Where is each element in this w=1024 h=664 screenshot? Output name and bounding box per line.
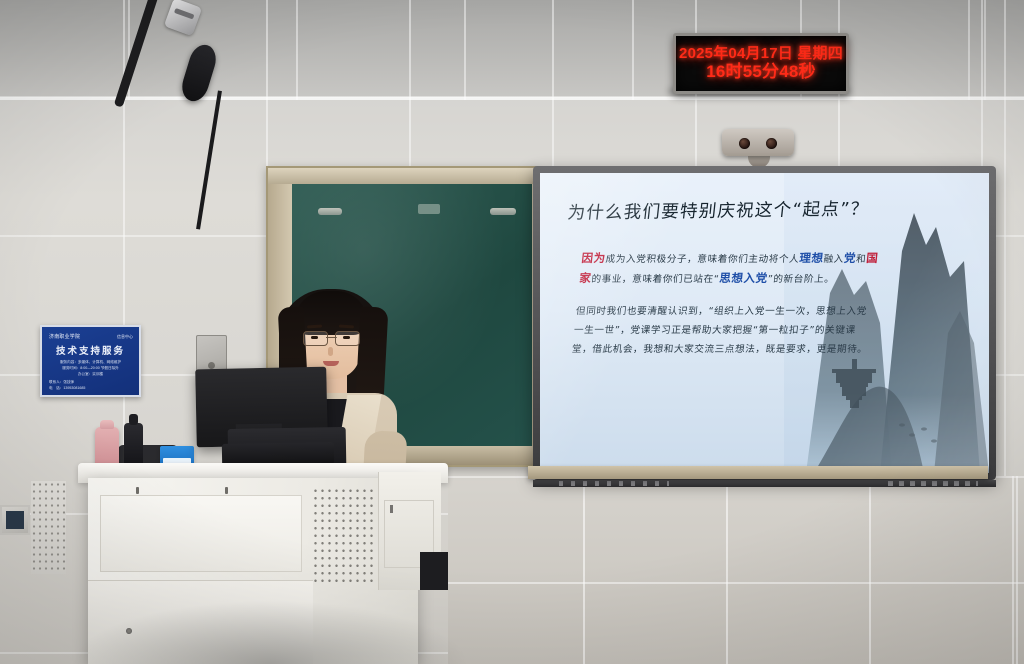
sign-contact-phone: 电 话：13953081685: [49, 385, 85, 391]
blackboard-handle-right[interactable]: [490, 208, 516, 215]
camera-lens-right-icon: [766, 138, 777, 149]
slide-highlight-ideological: 思想入党: [719, 271, 769, 285]
blackboard-top-rail: [268, 168, 536, 184]
podium-cable-opening: [420, 552, 448, 590]
recording-camera-icon: [722, 129, 794, 156]
presenter-nose: [328, 347, 333, 356]
classroom-photo: 2025年04月17日 星期四 16时55分48秒: [0, 0, 1024, 664]
slide-text-1: 成为入党积极分子，意味着你们主动将个人: [605, 254, 800, 265]
screen-control-buttons[interactable]: [559, 481, 669, 486]
blackboard-clip: [418, 204, 440, 214]
slide-canvas: 为什么我们要特别庆祝这个“起点”？ 因为成为入党积极分子，意味着你们主动将个人理…: [540, 173, 989, 473]
slide-paragraph-2: 但同时我们也要清醒认识到，“组织上入党一生一次，思想上入党一生一世”，党课学习正…: [571, 302, 877, 359]
slide-text-5: ”的新台阶上。: [767, 274, 835, 285]
presenter-eye-right: [343, 336, 350, 339]
lower-wall: [448, 476, 1024, 664]
presenter-eye-left: [311, 336, 318, 339]
slide-highlight-because: 因为: [581, 251, 607, 265]
slide-body-text: 因为成为入党积极分子，意味着你们主动将个人理想融入党和国家的事业，意味着你们已站…: [570, 249, 883, 372]
podium-cabinet-lock[interactable]: [390, 505, 393, 513]
blackboard-handle-left[interactable]: [318, 208, 342, 215]
sign-department: 信息中心: [117, 334, 133, 340]
presenter-mouth: [323, 361, 339, 366]
led-date-time-display: 2025年04月17日 星期四 16时55分48秒: [673, 33, 849, 94]
technical-support-sign: 济南职业学院 信息中心 技术支持服务 服务内容：多媒体、计算机、网络维护 服务时…: [40, 325, 141, 397]
sign-line-3: 办公室：实训楼: [48, 371, 133, 377]
podium-speaker-grille: [312, 487, 374, 582]
wall-jack-box: [0, 505, 30, 535]
led-time-line: 16时55分48秒: [706, 62, 816, 81]
slide-title: 为什么我们要特别庆祝这个“起点”？: [566, 194, 950, 224]
screen-support-shelf: [528, 466, 988, 479]
sign-contact: 联系人：张技师 电 话：13953081685: [49, 379, 85, 391]
camera-lens-left-icon: [739, 138, 750, 149]
podium-floor-shadow: [70, 600, 470, 664]
black-bottle: [124, 423, 143, 467]
slide-highlight-ideal: 理想: [799, 251, 825, 265]
screen-brand-mark: [888, 481, 978, 486]
pink-thermos: [95, 427, 119, 467]
podium-screw-left: [136, 487, 139, 494]
presenter-hair-top: [295, 291, 367, 335]
slide-text-2: 融入: [823, 254, 845, 265]
sign-title: 技术支持服务: [42, 343, 139, 357]
interactive-smart-screen[interactable]: 为什么我们要特别庆祝这个“起点”？ 因为成为入党积极分子，意味着你们主动将个人理…: [533, 166, 996, 480]
led-date-line: 2025年04月17日 星期四: [679, 46, 843, 63]
podium-screw-right: [225, 487, 228, 494]
sign-university-name: 济南职业学院: [49, 333, 80, 340]
slide-text-4: 的事业，意味着你们已站在“: [591, 274, 720, 285]
podium-front-panel: [100, 495, 302, 572]
slide-paragraph-1: 因为成为入党积极分子，意味着你们主动将个人理想融入党和国家的事业，意味着你们已站…: [578, 249, 882, 289]
wall-speaker-grille: [31, 481, 66, 574]
sign-services: 服务内容：多媒体、计算机、网络维护 服务时间：8:00—20:00 节假日除外 …: [48, 359, 133, 378]
